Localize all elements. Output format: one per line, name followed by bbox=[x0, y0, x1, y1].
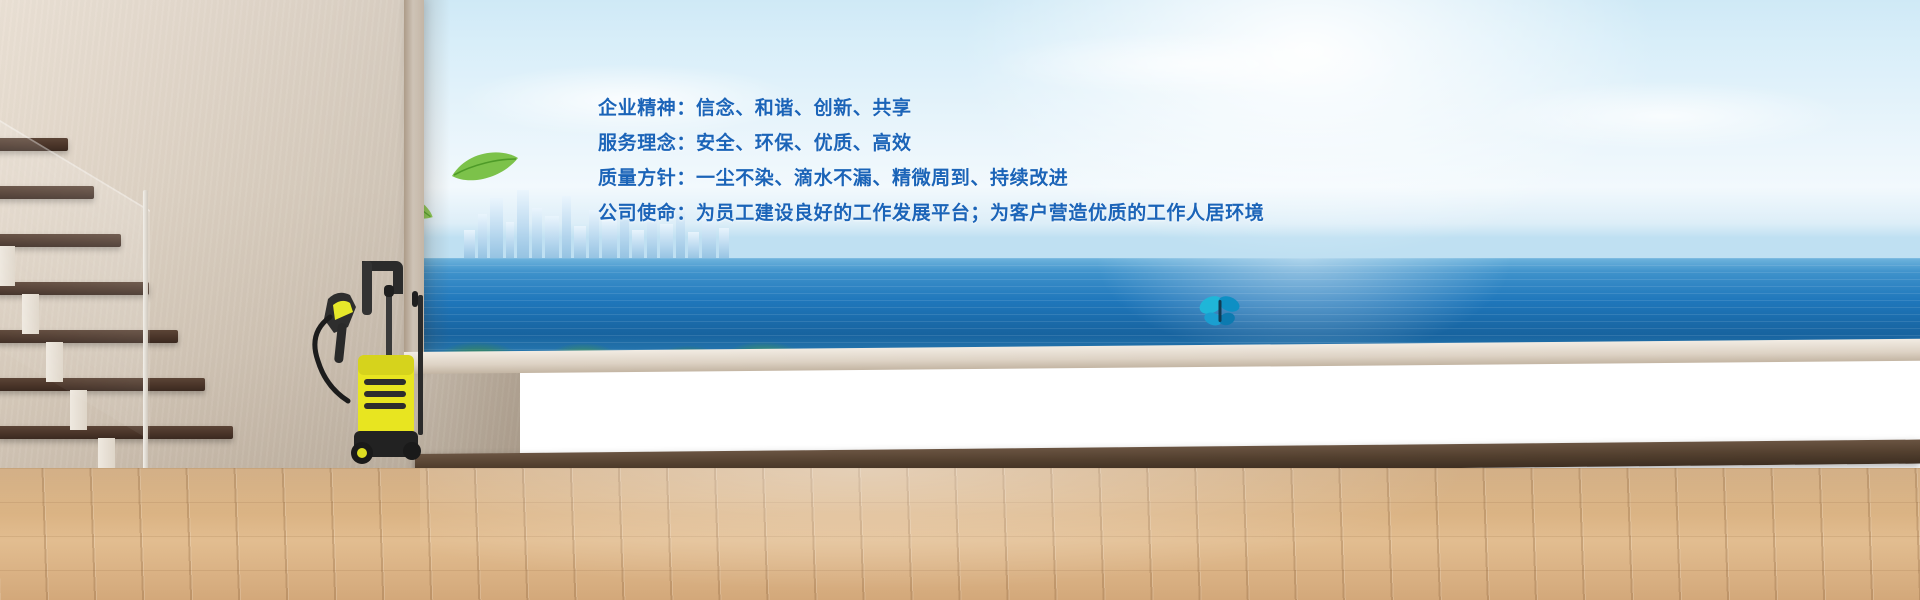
philosophy-text-block: 企业精神：信念、和谐、创新、共享 服务理念：安全、环保、优质、高效 质量方针：一… bbox=[598, 92, 1358, 232]
staircase bbox=[0, 120, 210, 480]
butterfly bbox=[1198, 292, 1242, 332]
philosophy-line-spirit: 企业精神：信念、和谐、创新、共享 bbox=[598, 92, 1358, 126]
pressure-washer bbox=[300, 255, 430, 465]
floating-leaf bbox=[450, 148, 520, 191]
philosophy-line-service: 服务理念：安全、环保、优质、高效 bbox=[598, 127, 1358, 161]
wooden-floor bbox=[0, 468, 1920, 600]
philosophy-line-mission: 公司使命：为员工建设良好的工作发展平台；为客户营造优质的工作人居环境 bbox=[598, 197, 1358, 231]
philosophy-line-quality: 质量方针：一尘不染、滴水不漏、精微周到、持续改进 bbox=[598, 162, 1358, 196]
railing-post bbox=[143, 190, 148, 490]
floor-reflection bbox=[420, 468, 1520, 600]
hero-banner: 企业精神：信念、和谐、创新、共享 服务理念：安全、环保、优质、高效 质量方针：一… bbox=[0, 0, 1920, 600]
